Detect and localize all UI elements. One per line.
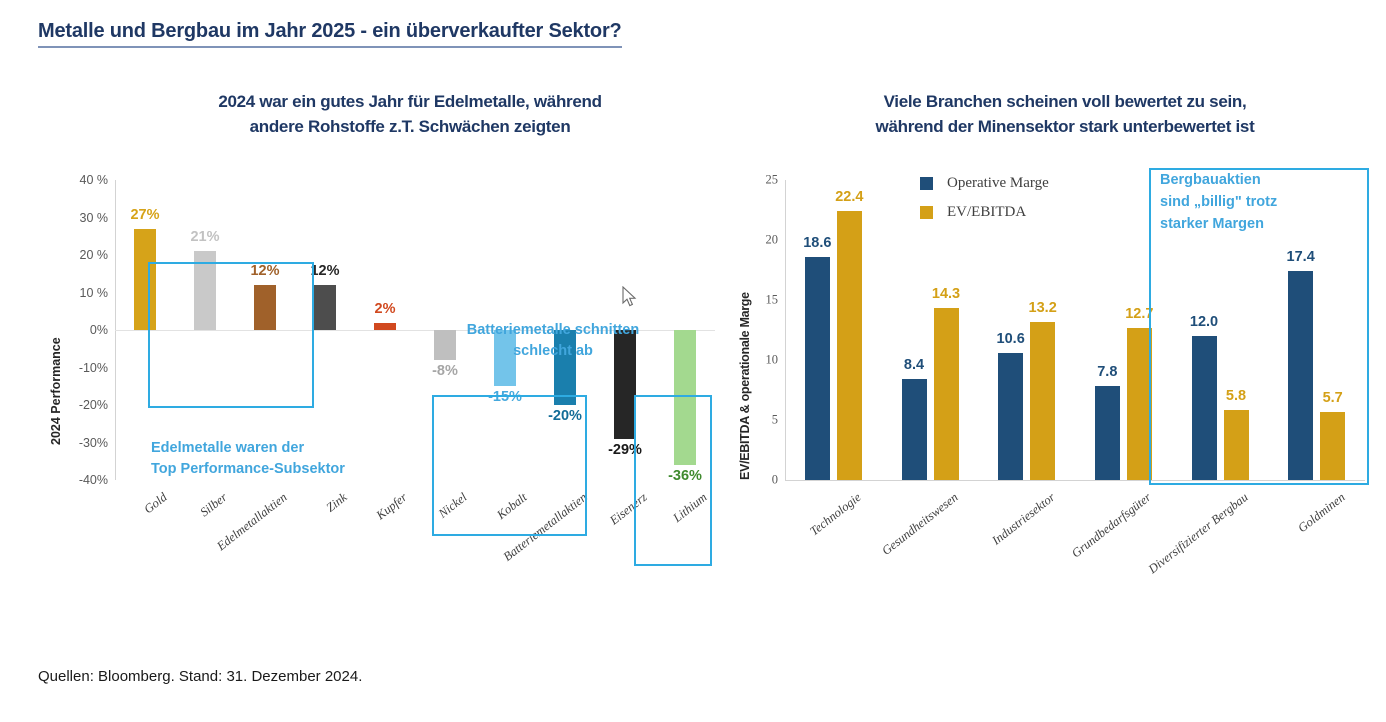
- right-y-tick-label: 20: [766, 233, 779, 248]
- left-y-tick-label: -40%: [79, 473, 108, 487]
- left-x-category-label: Edelmetallaktien: [186, 490, 290, 576]
- left-bar-value-label: -36%: [655, 468, 715, 484]
- right-bar-value-label: 13.2: [1013, 300, 1073, 316]
- right-y-tick-label: 5: [772, 413, 778, 428]
- legend-swatch-operative-marge: [920, 177, 933, 190]
- right-bar-value-label: 14.3: [916, 286, 976, 302]
- left-y-tick-label: 30 %: [80, 211, 109, 225]
- left-bar[interactable]: [194, 251, 216, 330]
- left-x-category-label: Kupfer: [306, 490, 410, 576]
- right-chart-subtitle: Viele Branchen scheinen voll bewertet zu…: [760, 90, 1370, 139]
- left-x-category-label: Gold: [66, 490, 170, 576]
- left-bar-value-label: 27%: [115, 207, 175, 223]
- callout-mining-valuation: Bergbauaktien sind „billig" trotz starke…: [1160, 170, 1277, 235]
- left-bar[interactable]: [674, 330, 696, 465]
- right-bar-value-label: 5.7: [1303, 390, 1363, 406]
- callout-precious-metals: Edelmetalle waren der Top Performance-Su…: [151, 438, 345, 480]
- right-bar[interactable]: [1288, 271, 1313, 480]
- right-bar[interactable]: [934, 308, 959, 480]
- left-y-tick-label: 10 %: [80, 286, 109, 300]
- left-bar-value-label: -8%: [415, 363, 475, 379]
- right-bar[interactable]: [902, 379, 927, 480]
- right-bar[interactable]: [1320, 412, 1345, 480]
- right-y-tick-label: 10: [766, 353, 779, 368]
- left-chart-subtitle: 2024 war ein gutes Jahr für Edelmetalle,…: [110, 90, 710, 139]
- legend-item-ev-ebitda: EV/EBITDA: [920, 204, 1049, 221]
- left-bar[interactable]: [374, 323, 396, 331]
- right-bar[interactable]: [998, 353, 1023, 480]
- left-x-category-label: Silber: [126, 490, 230, 576]
- right-bar-value-label: 5.8: [1206, 388, 1266, 404]
- left-bar-value-label: -20%: [535, 408, 595, 424]
- right-subtitle-line-2: während der Minensektor stark unterbewer…: [760, 115, 1370, 140]
- left-y-tick-label: -30%: [79, 436, 108, 450]
- left-bar[interactable]: [254, 285, 276, 330]
- right-plot-area: EV/EBITDA & operationale Marge 252015105…: [785, 180, 1365, 480]
- left-bar[interactable]: [314, 285, 336, 330]
- left-x-category-label: Lithium: [606, 490, 710, 576]
- left-subtitle-line-1: 2024 war ein gutes Jahr für Edelmetalle,…: [110, 90, 710, 115]
- right-bar[interactable]: [1127, 328, 1152, 480]
- left-y-tick-label: 40 %: [80, 173, 109, 187]
- right-y-tick-label: 25: [766, 173, 779, 188]
- left-x-category-label: Eisenerz: [546, 490, 650, 576]
- legend-label-ev-ebitda: EV/EBITDA: [947, 204, 1026, 221]
- mouse-cursor-icon: [622, 286, 637, 308]
- left-y-tick-label: 20 %: [80, 248, 109, 262]
- legend-item-operative-marge: Operative Marge: [920, 175, 1049, 192]
- right-bar-value-label: 12.7: [1109, 306, 1169, 322]
- right-bar-value-label: 12.0: [1174, 314, 1234, 330]
- right-chart-panel: Viele Branchen scheinen voll bewertet zu…: [720, 80, 1386, 700]
- source-footer: Quellen: Bloomberg. Stand: 31. Dezember …: [38, 668, 362, 685]
- legend-swatch-ev-ebitda: [920, 206, 933, 219]
- right-y-axis-line: [785, 180, 786, 480]
- right-bar[interactable]: [1224, 410, 1249, 480]
- left-bar-value-label: 12%: [295, 263, 355, 279]
- left-bar-value-label: -29%: [595, 442, 655, 458]
- right-y-tick-label: 0: [772, 473, 778, 488]
- right-bar[interactable]: [805, 257, 830, 480]
- right-bar-value-label: 17.4: [1271, 249, 1331, 265]
- left-bar-value-label: 12%: [235, 263, 295, 279]
- left-bar-value-label: -15%: [475, 389, 535, 405]
- legend-label-operative-marge: Operative Marge: [947, 175, 1049, 192]
- left-y-axis-title: 2024 Performance: [49, 337, 63, 445]
- right-y-tick-label: 15: [766, 293, 779, 308]
- left-x-category-label: Batteriemetallaktien: [486, 490, 590, 576]
- right-y-axis-title: EV/EBITDA & operationale Marge: [738, 292, 752, 480]
- right-baseline: [785, 480, 1365, 481]
- left-bar-value-label: 21%: [175, 229, 235, 245]
- left-x-category-label: Nickel: [366, 490, 470, 576]
- left-y-tick-label: -10%: [79, 361, 108, 375]
- right-chart-legend: Operative Marge EV/EBITDA: [920, 175, 1049, 233]
- left-chart-panel: 2024 war ein gutes Jahr für Edelmetalle,…: [20, 80, 720, 700]
- callout-battery-metals: Batteriemetalle schnitten schlecht ab: [438, 320, 668, 362]
- left-bar[interactable]: [134, 229, 156, 330]
- left-y-tick-label: -20%: [79, 398, 108, 412]
- right-bar-value-label: 22.4: [819, 189, 879, 205]
- page-title: Metalle und Bergbau im Jahr 2025 - ein ü…: [38, 20, 622, 48]
- right-bar[interactable]: [837, 211, 862, 480]
- left-x-category-label: Kobalt: [426, 490, 530, 576]
- right-bar[interactable]: [1095, 386, 1120, 480]
- left-bar-value-label: 2%: [355, 301, 415, 317]
- left-subtitle-line-2: andere Rohstoffe z.T. Schwächen zeigten: [110, 115, 710, 140]
- left-x-category-label: Zink: [246, 490, 350, 576]
- right-bar[interactable]: [1030, 322, 1055, 480]
- right-subtitle-line-1: Viele Branchen scheinen voll bewertet zu…: [760, 90, 1370, 115]
- left-y-tick-label: 0%: [90, 323, 108, 337]
- right-bar[interactable]: [1192, 336, 1217, 480]
